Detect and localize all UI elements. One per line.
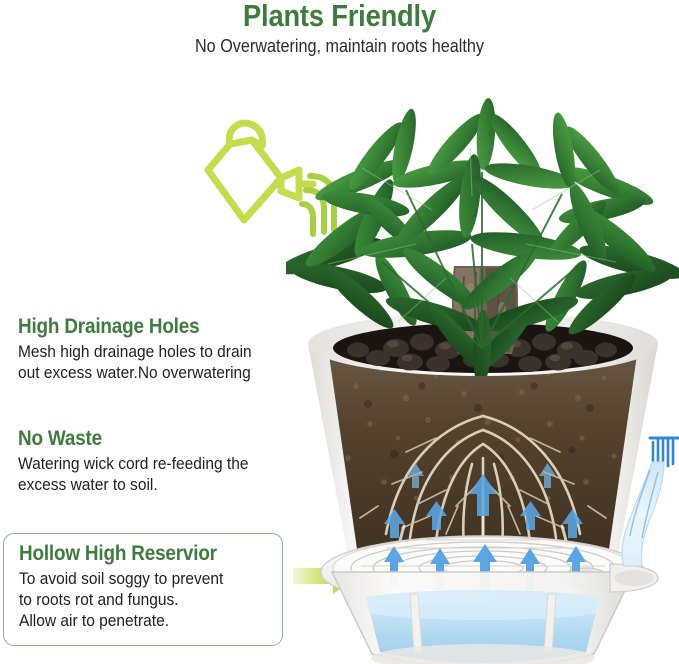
feature-body-line: excess water to soil. bbox=[18, 475, 248, 496]
self-watering-planter-illustration bbox=[286, 86, 679, 664]
feature-heading: High Drainage Holes bbox=[18, 316, 242, 338]
feature-hollow-high-reservoir-box: Hollow High Reservior To avoid soil sogg… bbox=[3, 533, 283, 646]
feature-body-line: Watering wick cord re-feeding the bbox=[18, 454, 248, 475]
page-title: Plants Friendly bbox=[41, 0, 639, 34]
infographic-canvas: Plants Friendly No Overwatering, maintai… bbox=[0, 0, 679, 664]
feature-no-waste: No Waste Watering wick cord re-feeding t… bbox=[18, 428, 263, 496]
water-pour-icon bbox=[600, 432, 679, 572]
page-subtitle: No Overwatering, maintain roots healthy bbox=[34, 36, 645, 57]
feature-body-line: to roots rot and fungus. bbox=[19, 590, 226, 611]
feature-heading: Hollow High Reservior bbox=[19, 543, 217, 565]
feature-body-line: To avoid soil soggy to prevent bbox=[19, 569, 226, 590]
feature-body-line: Allow air to penetrate. bbox=[19, 611, 226, 632]
feature-high-drainage-holes: High Drainage Holes Mesh high drainage h… bbox=[18, 316, 267, 384]
feature-body-line: out excess water.No overwatering bbox=[18, 363, 252, 384]
money-tree-foliage bbox=[286, 86, 679, 376]
feature-heading: No Waste bbox=[18, 428, 239, 450]
feature-body-line: Mesh high drainage holes to drain bbox=[18, 342, 252, 363]
